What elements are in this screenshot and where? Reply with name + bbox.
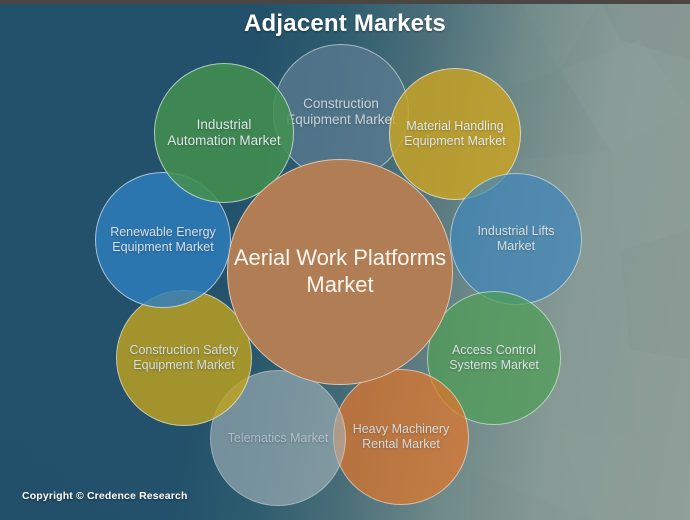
market-circle-construction-safety-equipment-market[interactable]: Construction Safety Equipment Market <box>116 290 252 426</box>
copyright-notice: Copyright © Credence Research <box>22 490 188 502</box>
market-circle-label: Construction Safety Equipment Market <box>117 343 251 372</box>
venn-diagram: Construction Equipment MarketMaterial Ha… <box>0 0 690 520</box>
market-circle-label: Industrial Automation Market <box>155 117 293 149</box>
market-circle-label: Construction Equipment Market <box>274 96 408 128</box>
market-circle-label: Industrial Lifts Market <box>451 224 581 253</box>
diagram-canvas: Adjacent Markets Construction Equipment … <box>0 0 690 520</box>
market-circle-label: Heavy Machinery Rental Market <box>334 422 468 451</box>
market-circle-label: Telematics Market <box>220 431 337 446</box>
market-circle-label: Renewable Energy Equipment Market <box>96 225 230 254</box>
center-circle-label: Aerial Work Platforms Market <box>228 245 452 299</box>
center-circle-aerial-work-platforms-market[interactable]: Aerial Work Platforms Market <box>227 159 453 385</box>
market-circle-industrial-lifts-market[interactable]: Industrial Lifts Market <box>450 173 582 305</box>
market-circle-label: Material Handling Equipment Market <box>390 119 520 148</box>
market-circle-heavy-machinery-rental-market[interactable]: Heavy Machinery Rental Market <box>333 369 469 505</box>
market-circle-label: Access Control Systems Market <box>428 343 560 372</box>
